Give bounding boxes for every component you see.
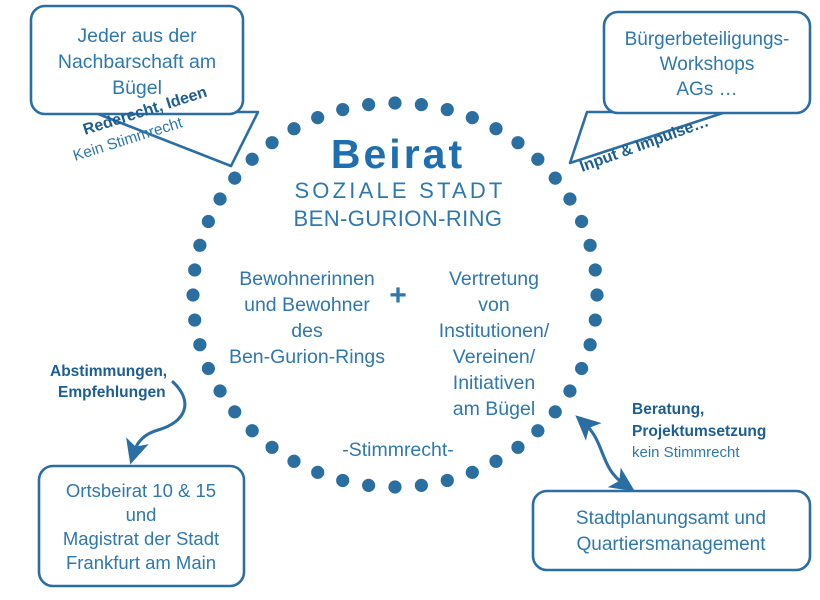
center-subtitle-2: BEN-GURION-RING xyxy=(294,206,503,231)
right-column-line-1: Vertretung xyxy=(449,268,539,290)
right-column-line-5: Initiativen xyxy=(453,372,535,394)
left-column-line-2: und Bewohner xyxy=(244,294,370,316)
center-left-column: Bewohnerinnen und Bewohner des Ben-Gurio… xyxy=(229,268,385,368)
right-column-line-2: von xyxy=(478,294,509,316)
center-title-group: Beirat SOZIALE STADT BEN-GURION-RING xyxy=(294,131,506,231)
right-column-line-6: am Bügel xyxy=(453,398,535,420)
right-column-line-4: Vereinen/ xyxy=(453,346,536,368)
plus-connector: + xyxy=(389,279,407,312)
center-content-layer: Beirat SOZIALE STADT BEN-GURION-RING Bew… xyxy=(0,0,820,600)
left-column-line-1: Bewohnerinnen xyxy=(239,268,375,290)
left-column-line-4: Ben-Gurion-Rings xyxy=(229,346,385,368)
right-column-line-3: Institutionen/ xyxy=(439,320,550,342)
center-right-column: Vertretung von Institutionen/ Vereinen/ … xyxy=(439,268,550,420)
center-title: Beirat xyxy=(331,131,465,177)
center-footer-stimmrecht: -Stimmrecht- xyxy=(342,439,454,461)
beirat-diagram: Jeder aus der Nachbarschaft am Bügel Red… xyxy=(0,0,820,600)
left-column-line-3: des xyxy=(291,320,323,342)
center-subtitle-1: SOZIALE STADT xyxy=(294,178,505,203)
